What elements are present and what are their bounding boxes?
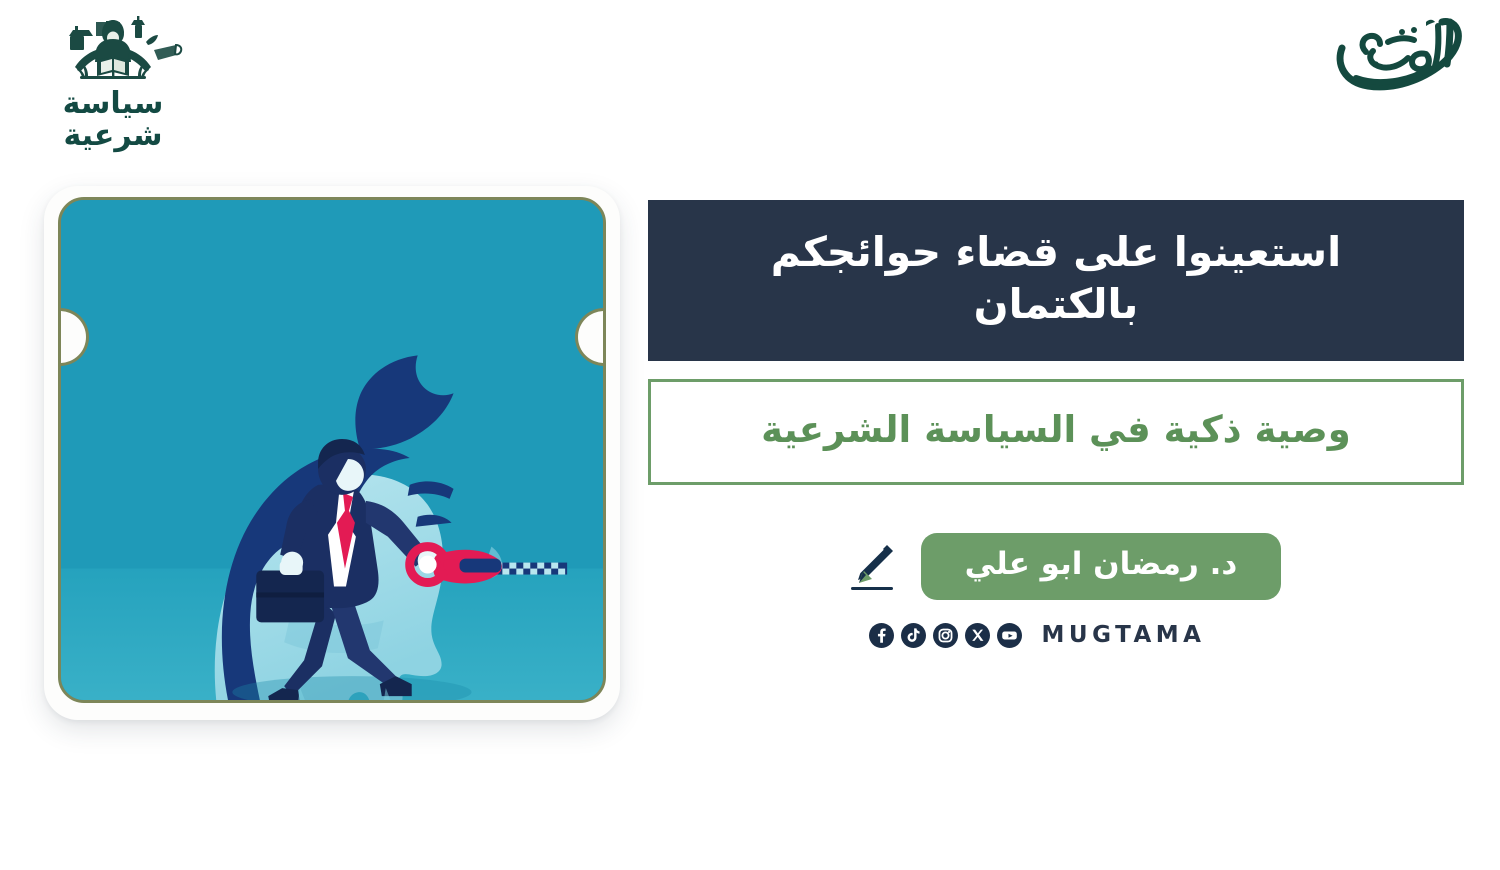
headline-text: استعينوا على قضاء حوائجكم بالكتمان	[682, 226, 1430, 331]
content-column: استعينوا على قضاء حوائجكم بالكتمان وصية …	[648, 200, 1464, 648]
headline-banner: استعينوا على قضاء حوائجكم بالكتمان	[648, 200, 1464, 361]
social-wordmark: MUGTAMA	[1042, 622, 1206, 648]
subtitle-banner: وصية ذكية في السياسة الشرعية	[648, 379, 1464, 485]
pen-icon	[843, 539, 899, 595]
mugtama-calligraphy-icon	[1330, 8, 1470, 100]
brand-left-wordmark: سياسة شرعية	[18, 88, 208, 151]
brand-right-logo	[1330, 8, 1470, 100]
youtube-icon[interactable]	[997, 623, 1022, 648]
tiktok-icon[interactable]	[901, 623, 926, 648]
author-name-pill[interactable]: د. رمضان ابو علي	[921, 533, 1282, 600]
brand-left-logo: سياسة شرعية	[18, 8, 208, 151]
illustration-card	[44, 186, 620, 720]
facebook-icon[interactable]	[869, 623, 894, 648]
social-row: MUGTAMA	[648, 622, 1464, 648]
x-twitter-icon[interactable]	[965, 623, 990, 648]
poster-canvas: سياسة شرعية	[0, 0, 1500, 870]
subtitle-text: وصية ذكية في السياسة الشرعية	[681, 406, 1431, 454]
scholar-reading-icon	[18, 8, 208, 86]
card-interior	[58, 197, 606, 703]
businessman-zipping-mouth-illustration	[61, 200, 603, 700]
instagram-icon[interactable]	[933, 623, 958, 648]
author-row: د. رمضان ابو علي	[648, 533, 1464, 600]
